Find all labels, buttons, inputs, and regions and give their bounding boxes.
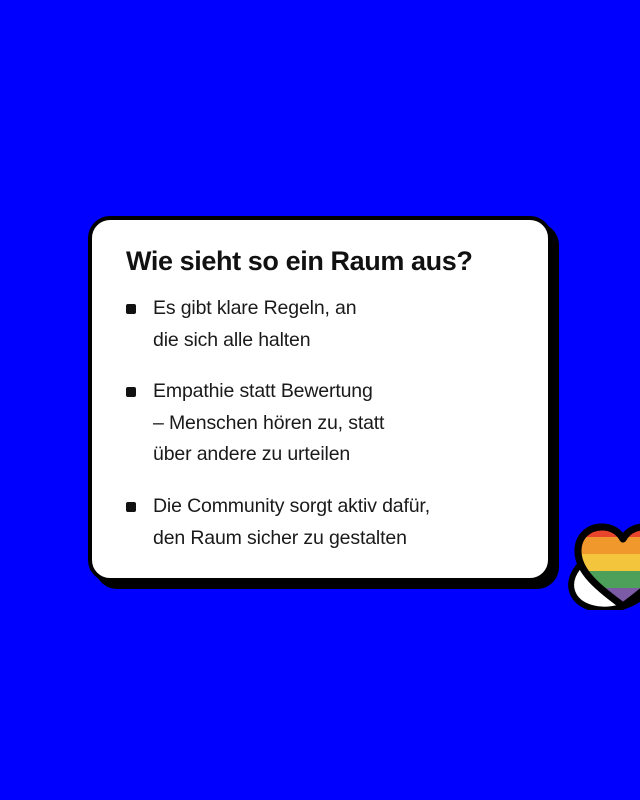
- list-item-line: den Raum sicher zu gestalten: [153, 523, 518, 555]
- square-bullet-icon: [126, 387, 136, 397]
- list-item-line: über andere zu urteilen: [153, 439, 518, 471]
- card-surface: Wie sieht so ein Raum aus? Es gibt klare…: [88, 216, 552, 582]
- list-item-line: Es gibt klare Regeln, an: [153, 293, 518, 325]
- rainbow-heart-sticker: [566, 506, 640, 610]
- list-item-line: Empathie statt Bewertung: [153, 376, 518, 408]
- list-item-line: Die Community sorgt aktiv dafür,: [153, 491, 518, 523]
- list-item: Es gibt klare Regeln, an die sich alle h…: [126, 293, 518, 356]
- list-item: Die Community sorgt aktiv dafür, den Rau…: [126, 491, 518, 554]
- list-item-line: – Menschen hören zu, statt: [153, 408, 518, 440]
- list-item-line: die sich alle halten: [153, 325, 518, 357]
- square-bullet-icon: [126, 304, 136, 314]
- slide-canvas: Wie sieht so ein Raum aus? Es gibt klare…: [0, 0, 640, 800]
- card-content: Wie sieht so ein Raum aus? Es gibt klare…: [92, 220, 548, 574]
- page-title: Wie sieht so ein Raum aus?: [126, 246, 518, 277]
- list-item: Empathie statt Bewertung – Menschen höre…: [126, 376, 518, 471]
- square-bullet-icon: [126, 502, 136, 512]
- bullet-list: Es gibt klare Regeln, an die sich alle h…: [126, 293, 518, 554]
- info-card: Wie sieht so ein Raum aus? Es gibt klare…: [88, 216, 552, 582]
